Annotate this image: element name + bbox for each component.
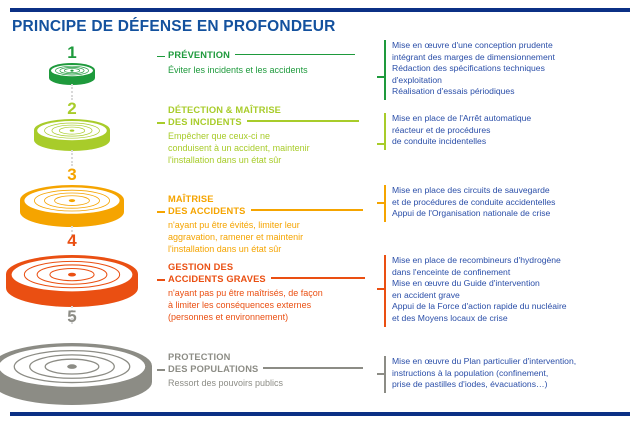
- level-title-line2: DES POPULATIONS: [168, 364, 363, 376]
- level-title: PRÉVENTION: [168, 50, 355, 62]
- level-description: Empêcher que ceux-ci neconduisent à un a…: [168, 130, 359, 167]
- description-line: aggravation, ramener et maintenir: [168, 231, 363, 243]
- description-line: (personnes et environnement): [168, 311, 365, 323]
- measure-line: dans l'enceinte de confinement: [392, 267, 636, 279]
- description-line: n'ayant pas pu être maîtrisés, de façon: [168, 287, 365, 299]
- infographic-root: PRINCIPE DE DÉFENSE EN PROFONDEUR 12345 …: [0, 0, 640, 426]
- measure-line: Mise en œuvre du Plan particulier d'inte…: [392, 356, 636, 368]
- title-underline: [271, 277, 365, 279]
- level-title: DÉTECTION & MAÎTRISE: [168, 105, 359, 117]
- level-measures-1: Mise en œuvre d'une conception prudentei…: [384, 40, 636, 98]
- measure-line: Mise en œuvre du Guide d'intervention: [392, 278, 636, 290]
- description-line: à limiter les conséquences externes: [168, 299, 365, 311]
- level-label-5: PROTECTIONDES POPULATIONSRessort des pou…: [168, 352, 363, 389]
- level-label-3: MAÎTRISEDES ACCIDENTSn'ayant pu être évi…: [168, 194, 363, 256]
- title-underline: [251, 209, 363, 211]
- level-measures-2: Mise en place de l'Arrêt automatiqueréac…: [384, 113, 636, 148]
- description-line: n'ayant pu être évités, limiter leur: [168, 219, 363, 231]
- measure-line: intégrant des marges de dimensionnement: [392, 52, 636, 64]
- level-title: MAÎTRISE: [168, 194, 363, 206]
- description-line: Éviter les incidents et les accidents: [168, 64, 355, 76]
- measure-line: Mise en place des circuits de sauvegarde: [392, 185, 636, 197]
- measure-line: Réalisation d'essais périodiques: [392, 86, 636, 98]
- measure-line: Mise en place de l'Arrêt automatique: [392, 113, 636, 125]
- measure-line: et des Moyens locaux de crise: [392, 313, 636, 325]
- dotted-connector: [71, 84, 73, 100]
- level-label-4: GESTION DESACCIDENTS GRAVESn'ayant pas p…: [168, 262, 365, 324]
- level-disc-5: [0, 340, 155, 413]
- level-title-line2: ACCIDENTS GRAVES: [168, 274, 365, 286]
- level-title-line2: DES INCIDENTS: [168, 117, 359, 129]
- measure-line: Mise en œuvre d'une conception prudente: [392, 40, 636, 52]
- measure-line: Rédaction des spécifications techniques: [392, 63, 636, 75]
- level-title: PROTECTION: [168, 352, 363, 364]
- connector-tick: [157, 211, 165, 213]
- level-description: n'ayant pu être évités, limiter leuraggr…: [168, 219, 363, 256]
- title-underline: [247, 120, 359, 122]
- level-measures-5: Mise en œuvre du Plan particulier d'inte…: [384, 356, 636, 391]
- level-number-2: 2: [52, 100, 92, 117]
- connector-tick: [157, 122, 165, 124]
- description-line: l'installation dans un état sûr: [168, 154, 359, 166]
- title-underline: [235, 54, 355, 56]
- level-stack: 12345: [0, 36, 160, 406]
- measures-bracket: [384, 255, 386, 327]
- level-label-2: DÉTECTION & MAÎTRISEDES INCIDENTSEmpêche…: [168, 105, 359, 167]
- measure-line: en accident grave: [392, 290, 636, 302]
- level-number-4: 4: [52, 232, 92, 249]
- measure-line: d'exploitation: [392, 75, 636, 87]
- level-number-1: 1: [52, 44, 92, 61]
- bracket-arm: [377, 202, 385, 204]
- page-title: PRINCIPE DE DÉFENSE EN PROFONDEUR: [12, 18, 336, 36]
- level-description: Éviter les incidents et les accidents: [168, 64, 355, 76]
- description-line: conduisent à un accident, maintenir: [168, 142, 359, 154]
- title-underline: [263, 367, 363, 369]
- bracket-arm: [377, 143, 385, 145]
- connector-tick: [157, 279, 165, 281]
- connector-tick: [157, 56, 165, 58]
- measures-bracket: [384, 40, 386, 100]
- measure-line: et de procédures de conduite accidentell…: [392, 197, 636, 209]
- level-measures-4: Mise en place de recombineurs d'hydrogèn…: [384, 255, 636, 325]
- measure-line: Appui de l'Organisation nationale de cri…: [392, 208, 636, 220]
- description-line: l'installation dans un état sûr: [168, 243, 363, 255]
- top-rule: [10, 8, 630, 12]
- level-description: Ressort des pouvoirs publics: [168, 377, 363, 389]
- level-label-1: PRÉVENTIONÉviter les incidents et les ac…: [168, 50, 355, 76]
- description-line: Empêcher que ceux-ci ne: [168, 130, 359, 142]
- bracket-arm: [377, 288, 385, 290]
- measure-line: de conduite incidentelles: [392, 136, 636, 148]
- level-number-5: 5: [52, 308, 92, 325]
- level-description: n'ayant pas pu être maîtrisés, de façonà…: [168, 287, 365, 324]
- measure-line: prise de pastilles d'iodes, évacuations……: [392, 379, 636, 391]
- description-line: Ressort des pouvoirs publics: [168, 377, 363, 389]
- level-title: GESTION DES: [168, 262, 365, 274]
- measure-line: réacteur et de procédures: [392, 125, 636, 137]
- measure-line: Appui de la Force d'action rapide du nuc…: [392, 301, 636, 313]
- bracket-arm: [377, 76, 385, 78]
- dotted-connector: [71, 150, 73, 166]
- bracket-arm: [377, 373, 385, 375]
- measure-line: instructions à la population (confinemen…: [392, 368, 636, 380]
- level-title-line2: DES ACCIDENTS: [168, 206, 363, 218]
- level-number-3: 3: [52, 166, 92, 183]
- measure-line: Mise en place de recombineurs d'hydrogèn…: [392, 255, 636, 267]
- level-measures-3: Mise en place des circuits de sauvegarde…: [384, 185, 636, 220]
- connector-tick: [157, 369, 165, 371]
